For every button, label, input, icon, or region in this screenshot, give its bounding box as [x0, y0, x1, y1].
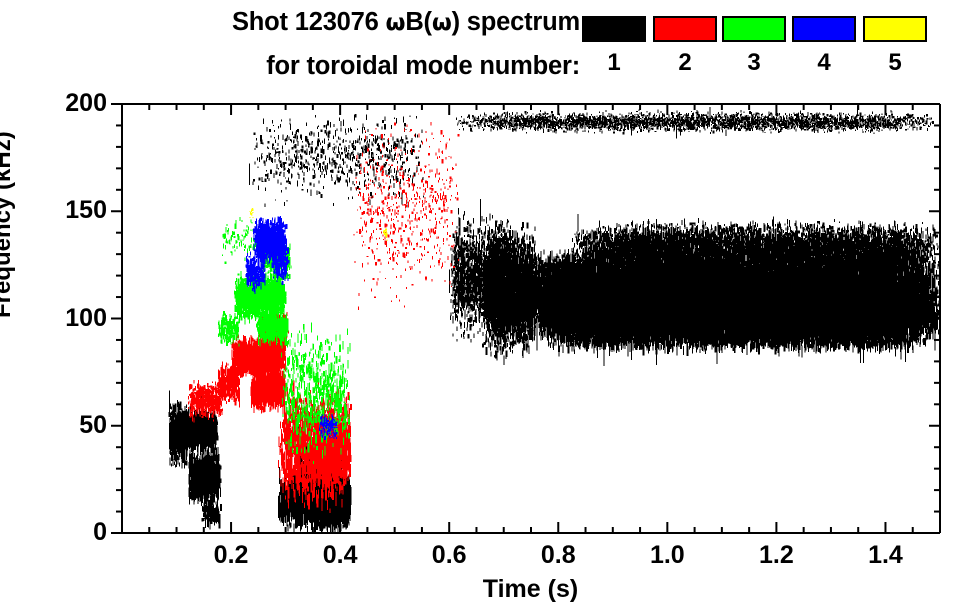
- legend-swatch-1: [582, 16, 646, 42]
- omega-symbol-1: ω: [386, 10, 406, 36]
- spectrogram-plot-canvas: [122, 104, 940, 533]
- legend: 12345: [578, 16, 963, 86]
- legend-item-4: 4: [792, 16, 854, 75]
- y-tick-label-50: 50: [0, 413, 107, 438]
- legend-item-3: 3: [722, 16, 784, 75]
- x-tick-label-1.4: 1.4: [835, 543, 935, 568]
- legend-item-5: 5: [863, 16, 925, 75]
- title-shot-text: Shot 123076: [232, 8, 386, 36]
- y-tick-label-0: 0: [0, 520, 107, 545]
- x-tick-label-0.8: 0.8: [508, 543, 608, 568]
- legend-swatch-3: [722, 16, 786, 42]
- legend-label-2: 2: [653, 51, 717, 75]
- legend-swatch-4: [792, 16, 856, 42]
- legend-item-1: 1: [582, 16, 644, 75]
- legend-label-3: 3: [722, 51, 786, 75]
- legend-label-1: 1: [582, 51, 646, 75]
- title-b-text: B(: [405, 8, 432, 36]
- y-axis-label: Frequency (kHz): [0, 131, 17, 318]
- y-tick-label-100: 100: [0, 306, 107, 331]
- x-tick-label-0.2: 0.2: [181, 543, 281, 568]
- y-tick-label-200: 200: [0, 91, 107, 116]
- legend-label-4: 4: [792, 51, 856, 75]
- legend-item-2: 2: [653, 16, 715, 75]
- figure-title-line-1: Shot 123076 ωB(ω) spectrum: [0, 8, 580, 37]
- x-tick-label-1.2: 1.2: [726, 543, 826, 568]
- title-spectrum-text: ) spectrum: [452, 8, 580, 36]
- figure-title-line-2: for toroidal mode number:: [0, 52, 580, 81]
- x-tick-label-1.0: 1.0: [617, 543, 717, 568]
- legend-label-5: 5: [863, 51, 927, 75]
- x-tick-label-0.6: 0.6: [399, 543, 499, 568]
- x-tick-label-0.4: 0.4: [290, 543, 390, 568]
- y-tick-label-150: 150: [0, 198, 107, 223]
- x-axis-label: Time (s): [0, 575, 963, 604]
- plot-area: [122, 104, 940, 533]
- x-axis-label-text: Time (s): [483, 575, 578, 604]
- legend-swatch-5: [863, 16, 927, 42]
- spectrogram-figure: Shot 123076 ωB(ω) spectrum for toroidal …: [0, 0, 963, 615]
- omega-symbol-2: ω: [432, 10, 452, 36]
- legend-swatch-2: [653, 16, 717, 42]
